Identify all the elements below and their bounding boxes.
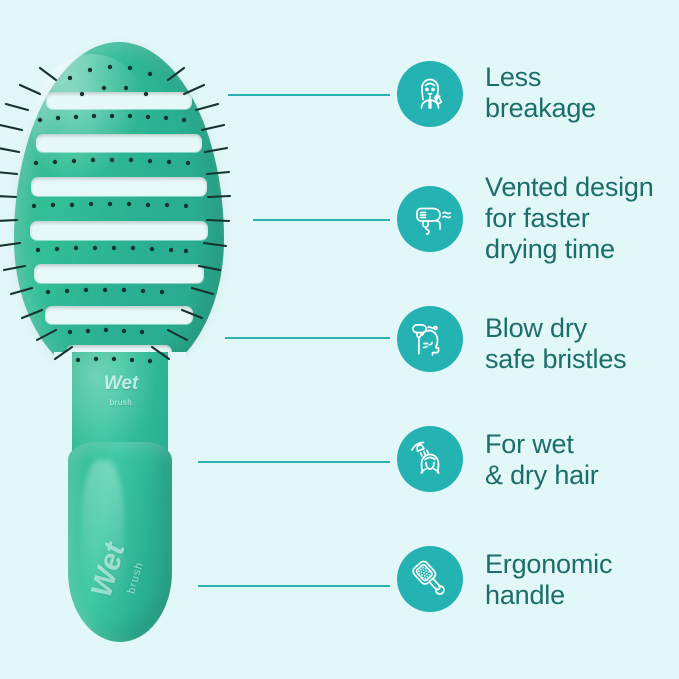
woman-brushing-hair-icon (408, 72, 452, 116)
feature-label-blow-dry: Blow dry safe bristles (485, 313, 626, 375)
vent-slot (30, 221, 208, 240)
feature-label-ergonomic-handle: Ergonomic handle (485, 549, 612, 611)
paddle-brush-icon (407, 556, 453, 602)
icon-badge-less-breakage[interactable] (397, 61, 463, 127)
icon-badge-blow-dry[interactable] (397, 306, 463, 372)
connector-line-less-breakage (228, 94, 390, 96)
icon-badge-wet-dry[interactable] (397, 426, 463, 492)
brand-logo-neck: Wet brush (86, 374, 156, 408)
infographic-canvas: Wet brush Wet brush (0, 0, 679, 679)
connector-line-wet-dry (198, 461, 390, 463)
icon-badge-vented-design[interactable] (397, 186, 463, 252)
connector-line-vented-design (253, 219, 390, 221)
feature-label-wet-dry: For wet & dry hair (485, 429, 599, 491)
vent-slot (45, 306, 193, 324)
connector-line-blow-dry (225, 337, 390, 339)
vent-slot (46, 92, 192, 109)
brush-head-highlight (32, 54, 152, 194)
feature-label-vented-design: Vented design for faster drying time (485, 172, 654, 265)
brush-head (14, 42, 224, 382)
vent-slot (36, 134, 202, 152)
shower-hair-icon (407, 436, 453, 482)
brand-logo-handle: Wet brush (76, 514, 168, 634)
feature-label-less-breakage: Less breakage (485, 62, 596, 124)
connector-line-ergonomic-handle (198, 585, 390, 587)
product-image: Wet brush Wet brush (0, 22, 270, 662)
vent-slot (34, 264, 204, 283)
hair-dryer-icon (407, 196, 453, 242)
icon-badge-ergonomic-handle[interactable] (397, 546, 463, 612)
blow-dry-head-icon (407, 316, 453, 362)
vent-slot (31, 177, 207, 196)
